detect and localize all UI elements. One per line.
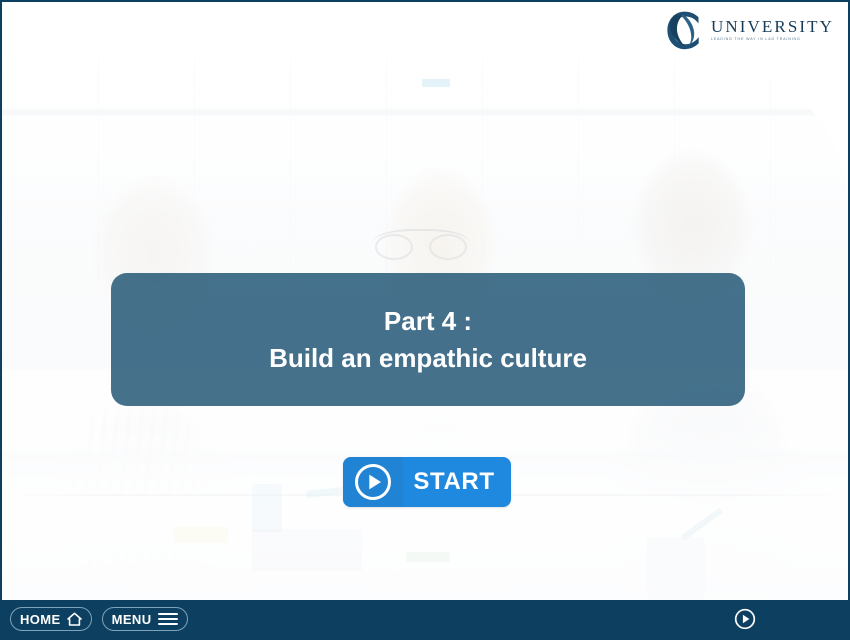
brand-name: UNIVERSITY — [711, 18, 834, 35]
brand-tagline: LEADING THE WAY IN L&D TRAINING — [711, 38, 834, 42]
hamburger-icon — [158, 613, 178, 626]
home-icon — [67, 612, 82, 626]
start-button-label: START — [403, 468, 511, 496]
slide-title-part: Part 4 : — [384, 303, 472, 340]
photo-person-center-glasses — [372, 229, 470, 257]
menu-button-label: MENU — [112, 612, 152, 627]
slide-title-text: Build an empathic culture — [269, 340, 587, 377]
course-slide-frame: UNIVERSITY LEADING THE WAY IN L&D TRAINI… — [0, 0, 850, 640]
photo-sticky-note — [174, 527, 228, 543]
photo-green-accent — [406, 552, 450, 562]
home-button-label: HOME — [20, 612, 61, 627]
x-in-c-monogram-icon — [664, 10, 708, 52]
photo-glass — [647, 537, 705, 600]
player-play-button[interactable] — [734, 608, 756, 630]
header-bar: UNIVERSITY LEADING THE WAY IN L&D TRAINI… — [2, 2, 848, 59]
brand-text-block: UNIVERSITY LEADING THE WAY IN L&D TRAINI… — [711, 18, 834, 43]
slide-title-card: Part 4 : Build an empathic culture — [111, 273, 745, 406]
photo-teal-accent — [422, 79, 450, 87]
home-button[interactable]: HOME — [10, 607, 92, 631]
play-circle-icon — [353, 462, 393, 502]
menu-button[interactable]: MENU — [102, 607, 188, 631]
photo-laptop — [252, 529, 362, 571]
photo-desk-layer — [2, 430, 848, 600]
start-button[interactable]: START — [343, 457, 511, 507]
bottom-navigation-bar: HOME MENU — [2, 600, 848, 638]
photo-cup — [252, 484, 282, 532]
play-circle-icon — [734, 608, 756, 630]
brand-logo: UNIVERSITY LEADING THE WAY IN L&D TRAINI… — [664, 9, 834, 53]
start-button-icon-area — [343, 457, 403, 507]
